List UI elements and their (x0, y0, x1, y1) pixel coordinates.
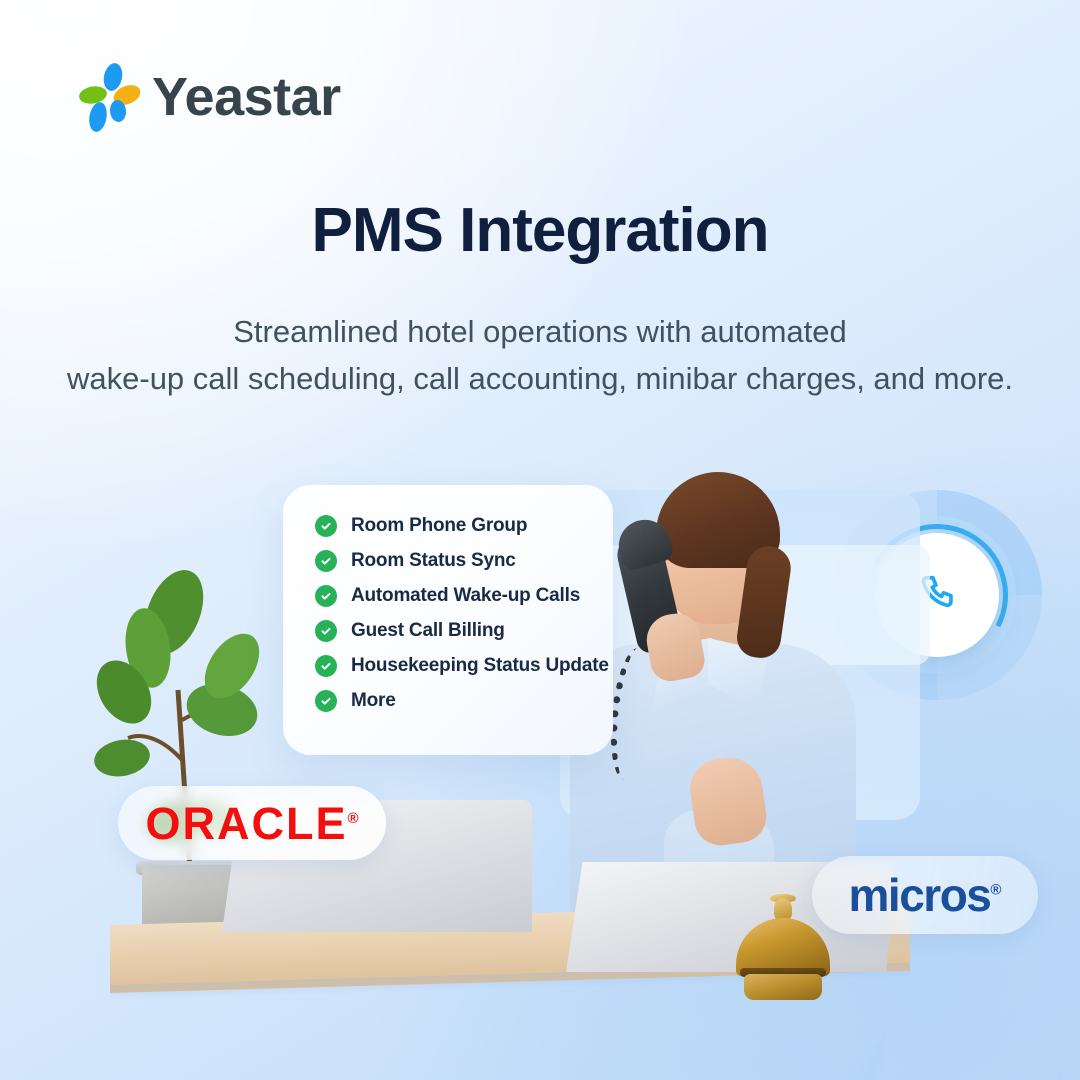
feature-label: Room Phone Group (351, 515, 527, 537)
bell-knob (774, 898, 792, 920)
check-circle-icon (315, 585, 337, 607)
bell-base (744, 974, 822, 1000)
check-circle-icon (315, 550, 337, 572)
list-item: Room Phone Group (315, 515, 613, 537)
oracle-logo-pill[interactable]: ORACLE® (118, 786, 386, 860)
micros-name: micros (849, 869, 991, 921)
oracle-trademark: ® (347, 810, 358, 827)
feature-label: Automated Wake-up Calls (351, 585, 580, 607)
oracle-wordmark: ORACLE® (145, 801, 358, 846)
page-subtitle: Streamlined hotel operations with automa… (0, 308, 1080, 402)
feature-label: Housekeeping Status Update (351, 655, 609, 677)
feature-label: Guest Call Billing (351, 620, 505, 642)
brand-wordmark: Yeastar (152, 70, 341, 124)
oracle-name: ORACLE (145, 798, 347, 849)
list-item: Guest Call Billing (315, 620, 613, 642)
check-circle-icon (315, 620, 337, 642)
micros-wordmark: micros® (849, 872, 1002, 918)
subtitle-line-1: Streamlined hotel operations with automa… (0, 308, 1080, 355)
poster-canvas: Yeastar PMS Integration Streamlined hote… (0, 0, 1080, 1080)
feature-label: More (351, 690, 396, 712)
list-item: Automated Wake-up Calls (315, 585, 613, 607)
check-circle-icon (315, 515, 337, 537)
list-item: Room Status Sync (315, 550, 613, 572)
yeastar-pinwheel-icon (78, 62, 140, 132)
check-circle-icon (315, 655, 337, 677)
feature-label: Room Status Sync (351, 550, 516, 572)
micros-trademark: ® (990, 882, 1001, 899)
page-title: PMS Integration (0, 198, 1080, 265)
subtitle-line-2: wake-up call scheduling, call accounting… (0, 355, 1080, 402)
list-item: More (315, 690, 613, 712)
list-item: Housekeeping Status Update (315, 655, 613, 677)
brand-logo[interactable]: Yeastar (78, 62, 341, 132)
feature-list-card: Room Phone Group Room Status Sync Automa… (283, 485, 613, 755)
check-circle-icon (315, 690, 337, 712)
micros-logo-pill[interactable]: micros® (812, 856, 1038, 934)
